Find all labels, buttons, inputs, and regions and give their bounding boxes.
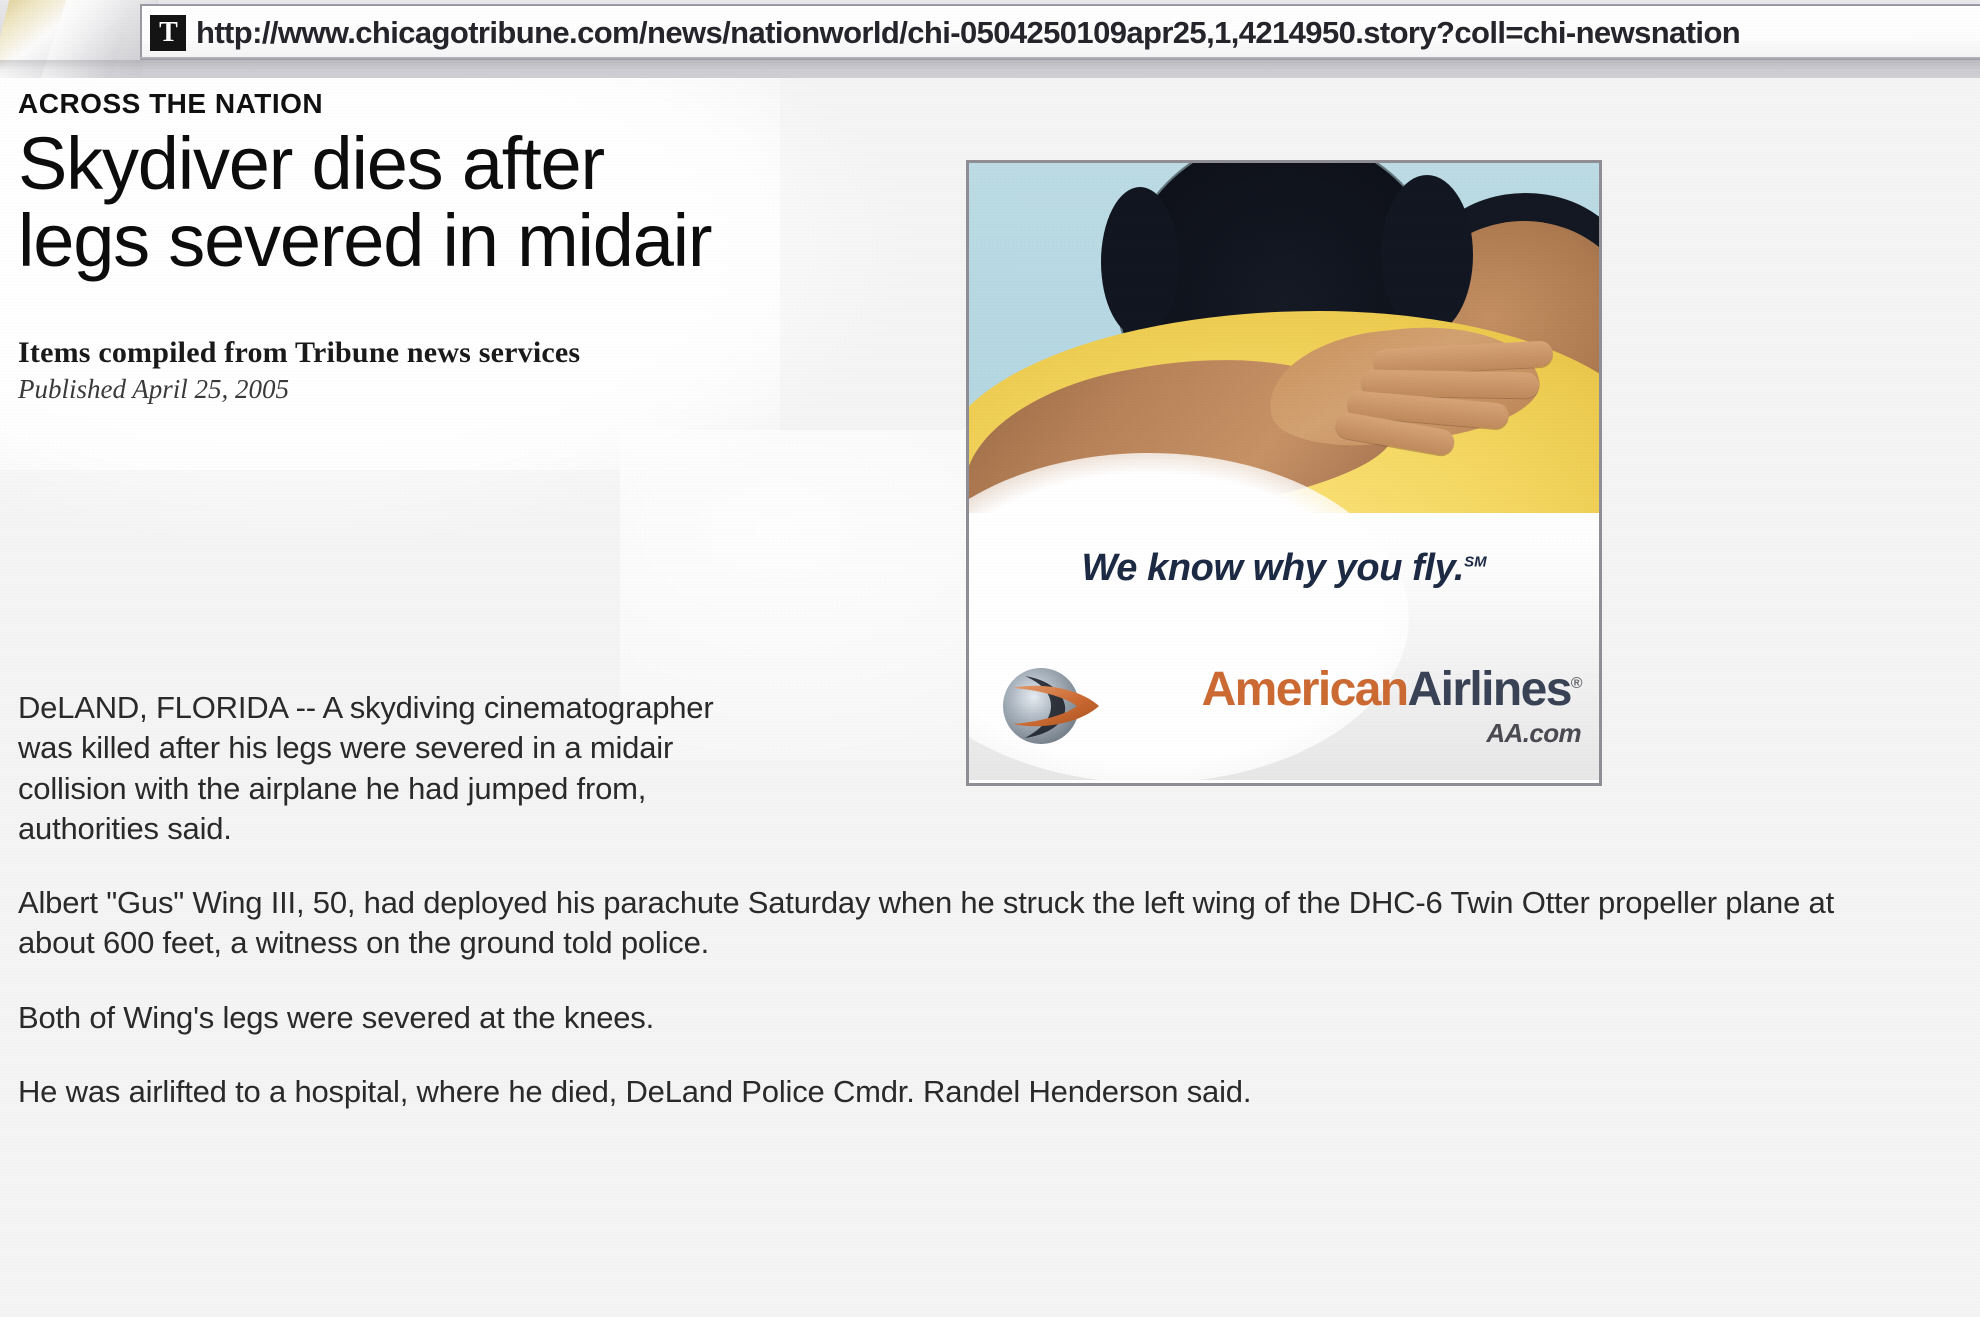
body-paragraph: He was airlifted to a hospital, where he… [18,1072,1898,1112]
page-title: Skydiver dies after legs severed in mida… [18,126,718,280]
ad-message-area: We know why you fly.SM [969,513,1599,780]
fingers [1335,351,1555,447]
article-header: ACROSS THE NATION Skydiver dies after le… [18,88,948,405]
byline-block: Items compiled from Tribune news service… [18,336,948,405]
body-paragraph: Both of Wing's legs were severed at the … [18,998,1898,1038]
brand-american: American [1202,663,1408,716]
american-airlines-ad[interactable]: We know why you fly.SM [966,160,1602,786]
aa-wordmark: AmericanAirlines® AA.com [1133,666,1581,746]
published-date: Published April 25, 2005 [18,374,948,405]
url-text[interactable]: http://www.chicagotribune.com/news/natio… [196,15,1980,51]
service-mark: SM [1464,553,1487,570]
registered-mark: ® [1571,675,1581,692]
ad-tagline-text: We know why you fly. [1081,547,1464,589]
aa-brand-name: AmericanAirlines® [1133,666,1581,714]
address-bar-dropshadow [0,60,1980,78]
american-airlines-logo[interactable]: AmericanAirlines® AA.com [995,658,1581,754]
body-paragraph: Albert "Gus" Wing III, 50, had deployed … [18,883,1898,964]
body-paragraph: DeLAND, FLORIDA -- A skydiving cinematog… [18,688,763,849]
byline-credit: Items compiled from Tribune news service… [18,336,948,370]
aa-website[interactable]: AA.com [1133,720,1581,746]
url-field[interactable]: T http://www.chicagotribune.com/news/nat… [140,4,1980,60]
ad-tagline: We know why you fly.SM [969,547,1599,590]
brand-airlines: Airlines [1408,663,1571,716]
section-kicker: ACROSS THE NATION [18,88,948,120]
browser-address-bar[interactable]: T http://www.chicagotribune.com/news/nat… [0,0,1980,78]
chicago-tribune-favicon: T [150,15,186,51]
ad-photograph [969,163,1599,513]
aa-eagle-globe-icon [995,658,1107,754]
